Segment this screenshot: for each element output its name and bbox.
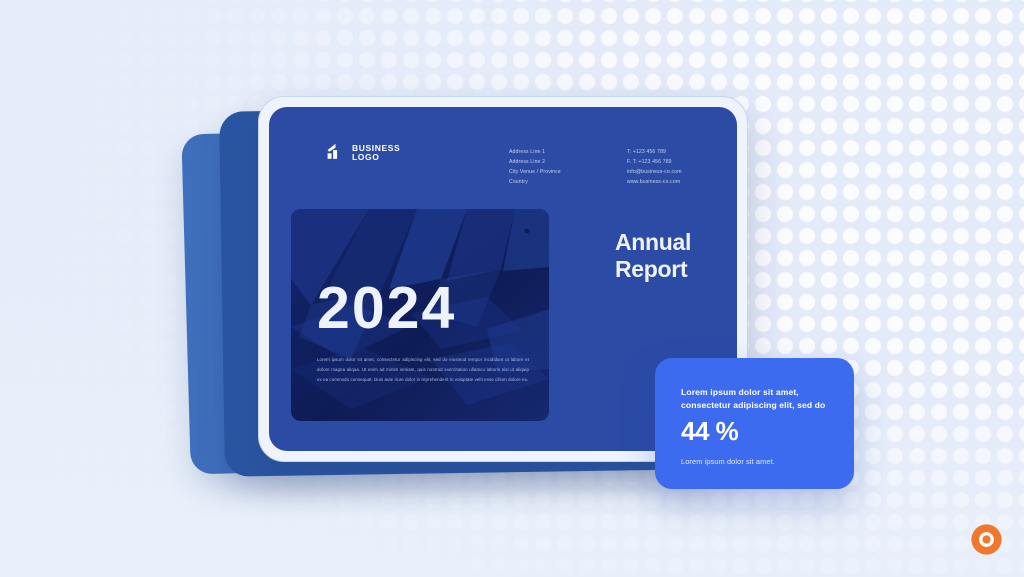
address-block: Address Line 1 Address Line 2 City Venue… xyxy=(509,148,561,188)
stat-card-caption: Lorem ipsum dolor sit amet. xyxy=(681,457,775,466)
contact-block: T: +123 456 789 F. T: +123 456 789 info@… xyxy=(627,148,682,188)
cover-paragraph: Lorem ipsum dolor sit amet, consectetur … xyxy=(317,355,529,384)
cover-year: 2024 xyxy=(317,279,456,338)
contact-website: www.business-co.com xyxy=(627,178,682,188)
orange-ring-logo-icon xyxy=(967,520,1006,559)
stat-card-heading: Lorem ipsum dolor sit amet, consectetur … xyxy=(681,386,833,413)
address-line-3: City Venue / Province xyxy=(509,168,561,178)
business-logo: BUSINESS LOGO xyxy=(326,143,400,162)
stat-heading-line-2: consectetur adipiscing elit, sed do xyxy=(681,400,825,410)
address-line-2: Address Line 2 xyxy=(509,158,561,168)
stat-heading-line-1: Lorem ipsum dolor sit amet, xyxy=(681,387,799,397)
poster-scene: BUSINESS LOGO Address Line 1 Address Lin… xyxy=(0,0,1024,577)
contact-fax: F. T: +123 456 789 xyxy=(627,158,682,168)
address-line-1: Address Line 1 xyxy=(509,148,561,158)
bar-chart-arrow-logo-icon xyxy=(326,143,345,162)
contact-email: info@business-co.com xyxy=(627,168,682,178)
business-logo-text: BUSINESS LOGO xyxy=(352,144,400,162)
cover-title-line-2: Report xyxy=(615,256,691,283)
stat-card-value: 44 % xyxy=(681,418,738,444)
logo-line-2: LOGO xyxy=(352,153,400,162)
contact-phone: T: +123 456 789 xyxy=(627,148,682,158)
address-line-4: Country xyxy=(509,178,561,188)
cover-title: Annual Report xyxy=(615,229,691,283)
cover-header: BUSINESS LOGO Address Line 1 Address Lin… xyxy=(269,107,737,209)
cover-title-line-1: Annual xyxy=(615,229,691,256)
stat-card: Lorem ipsum dolor sit amet, consectetur … xyxy=(655,358,854,489)
